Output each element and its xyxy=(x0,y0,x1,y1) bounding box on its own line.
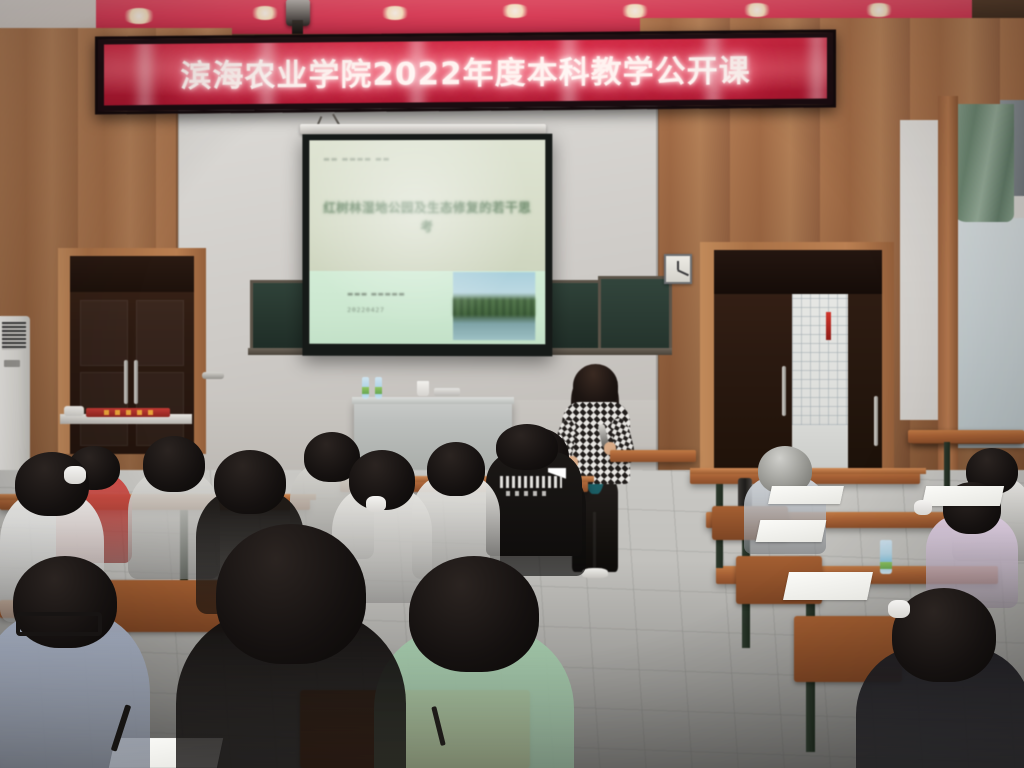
projection-screen: ▬▬ ▬▬▬▬ ▬▬ 红树林湿地公园及生态修复的若干思考 ▬▬▬ ▬▬▬▬▬ 2… xyxy=(302,134,552,357)
door-handle[interactable] xyxy=(782,366,786,416)
door-handle[interactable] xyxy=(874,396,878,446)
corridor-tile-wall xyxy=(792,294,852,425)
student-hair xyxy=(216,524,366,664)
student-hair xyxy=(496,424,558,470)
desk xyxy=(908,430,1024,443)
banner-glare-streak xyxy=(804,38,827,106)
student-hair xyxy=(409,556,539,672)
clock-face xyxy=(666,256,690,282)
presenter-shoes xyxy=(582,568,608,578)
banner-glare-streak xyxy=(254,38,280,106)
podium-equipment xyxy=(434,388,460,396)
student xyxy=(176,524,406,768)
ceiling-light xyxy=(500,4,530,18)
door-right-transom xyxy=(714,250,882,294)
banner-glare-streak xyxy=(132,38,158,106)
face-mask xyxy=(914,500,932,515)
student xyxy=(744,446,826,524)
paper-sheet xyxy=(756,520,827,542)
student xyxy=(856,588,1024,768)
window-with-blinds xyxy=(952,218,1024,448)
classroom-photo: 滨海农业学院2022年度本科教学公开课 ▬▬ ▬▬▬▬ ▬▬ 红树林湿地公园及生… xyxy=(0,0,1024,768)
door-lever-handle[interactable] xyxy=(202,372,224,379)
door-right-leaf-open[interactable] xyxy=(848,286,882,476)
air-conditioner-label xyxy=(4,360,20,367)
ceiling-light xyxy=(620,4,650,18)
clock-hand-minute xyxy=(677,269,689,275)
wall-clock xyxy=(664,254,692,284)
face-mask xyxy=(64,466,86,484)
door-handle[interactable] xyxy=(134,360,138,404)
door-panel xyxy=(80,300,128,366)
door-left-transom xyxy=(70,256,194,292)
side-table-decor xyxy=(104,410,158,415)
shirt-logo-subtext xyxy=(506,491,550,496)
ceiling-light xyxy=(742,3,772,17)
student-hair xyxy=(427,442,485,496)
corridor-notice xyxy=(826,312,831,340)
led-banner-screen: 滨海农业学院2022年度本科教学公开课 xyxy=(104,38,827,106)
water-bottle xyxy=(880,540,892,574)
student xyxy=(0,556,150,768)
green-curtain xyxy=(952,104,1014,222)
door-panel xyxy=(136,300,184,366)
water-bottle xyxy=(375,377,382,399)
ceiling-light xyxy=(380,6,410,20)
air-conditioner-grille xyxy=(2,322,26,350)
slide-date-text: 20220427 xyxy=(347,306,385,314)
desk xyxy=(610,450,696,462)
led-banner: 滨海农业学院2022年度本科教学公开课 xyxy=(95,29,836,114)
ceiling-light xyxy=(122,8,156,24)
paper-sheet xyxy=(922,486,1004,506)
door-handle[interactable] xyxy=(124,360,128,404)
slide-photo-thumbnail xyxy=(453,272,535,340)
eyeglasses xyxy=(16,612,102,636)
side-table-white-item xyxy=(64,406,84,416)
face-mask xyxy=(366,496,386,512)
ceiling-light xyxy=(864,3,894,17)
student-hair xyxy=(214,450,286,514)
presentation-slide: ▬▬ ▬▬▬▬ ▬▬ 红树林湿地公园及生态修复的若干思考 ▬▬▬ ▬▬▬▬▬ 2… xyxy=(309,140,545,345)
paper-cup xyxy=(417,381,429,396)
slide-kicker-text: ▬▬ ▬▬▬▬ ▬▬ xyxy=(323,155,390,163)
paper-sheet xyxy=(768,486,844,504)
ceiling-light xyxy=(250,6,280,20)
ceiling-projector xyxy=(286,0,310,26)
banner-glare-streak xyxy=(404,38,430,106)
banner-glare-streak xyxy=(700,38,726,106)
blackboard-right-panel xyxy=(598,276,672,354)
projection-screen-roller xyxy=(300,124,546,134)
face-mask xyxy=(888,600,910,618)
shirt-logo-text xyxy=(500,476,562,488)
slide-title-text: 红树林湿地公园及生态修复的若干思考 xyxy=(323,199,531,237)
slide-presenter-text: ▬▬▬ ▬▬▬▬▬ xyxy=(347,290,405,298)
water-bottle xyxy=(362,377,369,399)
banner-glare-streak xyxy=(556,38,582,106)
student-hair xyxy=(15,452,89,516)
